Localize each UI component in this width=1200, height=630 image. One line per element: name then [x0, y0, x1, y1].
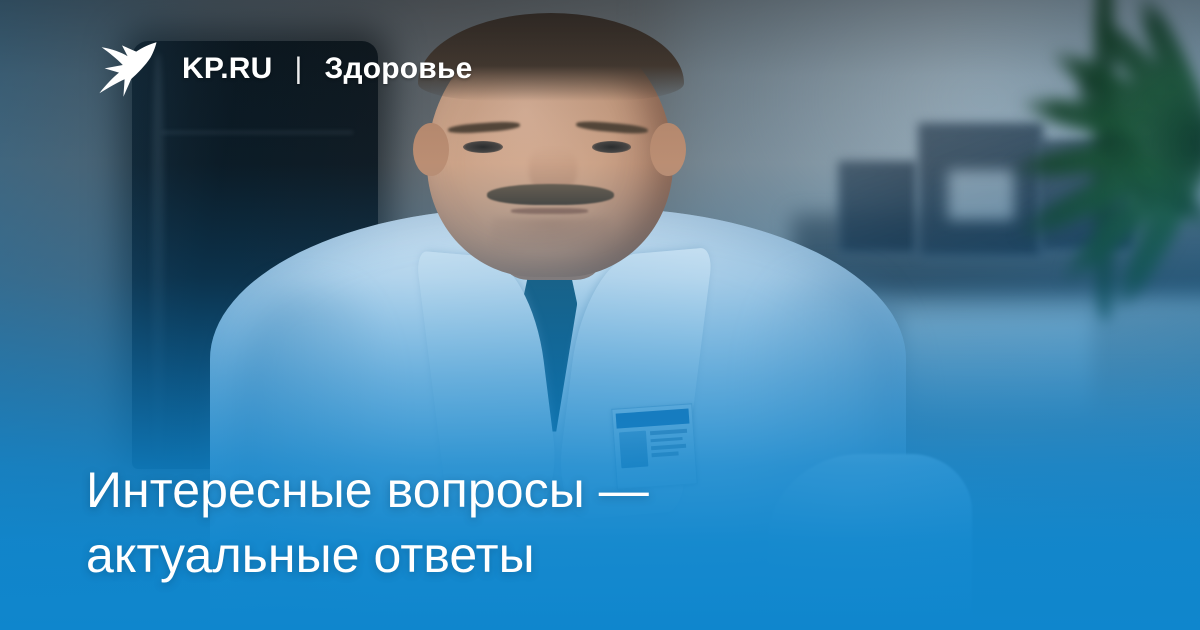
kp-swallow-bird-icon	[92, 38, 158, 100]
headline-line-2: актуальные ответы	[86, 523, 846, 588]
page-headline: Интересные вопросы — актуальные ответы	[86, 458, 846, 588]
doctor-mustache	[487, 184, 614, 205]
doctor-eye	[592, 141, 632, 153]
social-share-card: KP.RU | Здоровье Интересные вопросы — ак…	[0, 0, 1200, 630]
badge-text-line	[651, 437, 683, 443]
brand-section-label[interactable]: Здоровье	[324, 52, 472, 86]
brand-text: KP.RU | Здоровье	[182, 52, 472, 86]
badge-text-line	[652, 444, 687, 450]
chin-shadow	[492, 218, 610, 250]
badge-text-line	[651, 429, 688, 435]
doctor-ear	[413, 123, 449, 177]
badge-header-bar	[616, 409, 690, 429]
headline-line-1: Интересные вопросы —	[86, 458, 846, 523]
doctor-eye	[463, 141, 503, 153]
brand-site-label[interactable]: KP.RU	[182, 52, 272, 86]
doctor-ear	[650, 123, 686, 177]
brand-separator: |	[294, 52, 302, 86]
brand-bar[interactable]: KP.RU | Здоровье	[92, 38, 472, 100]
doctor-mouth	[511, 208, 588, 214]
badge-text-line	[652, 451, 679, 457]
